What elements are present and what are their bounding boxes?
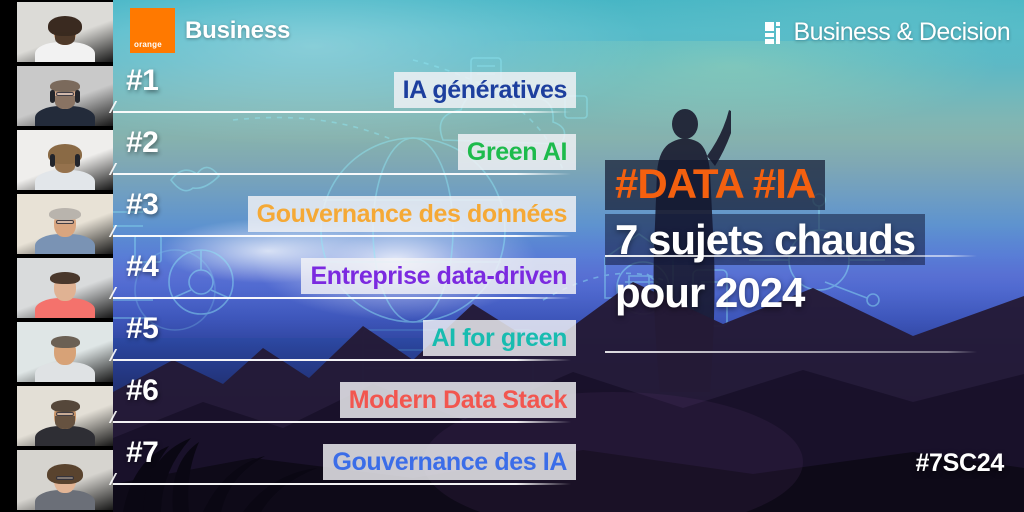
topic-row-4[interactable]: #4Entreprise data-driven (113, 242, 573, 298)
topic-row-2[interactable]: #2Green AI (113, 118, 573, 174)
tile-headphone-left (50, 90, 55, 103)
topic-divider-1 (113, 111, 571, 113)
video-tile-4[interactable] (17, 194, 113, 254)
topic-row-6[interactable]: #6Modern Data Stack (113, 366, 573, 422)
topic-rank-3: #3 (126, 188, 158, 222)
tile-glasses (56, 412, 74, 416)
tile-torso (35, 298, 95, 318)
video-tile-1[interactable] (17, 2, 113, 62)
video-tile-6[interactable] (17, 322, 113, 382)
topic-label-7[interactable]: Gouvernance des IA (323, 444, 576, 480)
tile-torso (35, 106, 95, 126)
topic-divider-5 (113, 359, 571, 361)
topic-divider-2 (113, 173, 571, 175)
tile-torso (35, 490, 95, 510)
topic-label-6[interactable]: Modern Data Stack (340, 382, 576, 418)
tile-headphone-left (50, 154, 55, 167)
tile-torso (35, 42, 95, 62)
topic-rank-6: #6 (126, 374, 158, 408)
topic-label-3[interactable]: Gouvernance des données (248, 196, 576, 232)
video-tile-7[interactable] (17, 386, 113, 446)
tile-glasses (56, 476, 74, 480)
tile-beard (55, 160, 75, 173)
tile-torso (35, 362, 95, 382)
topic-label-4[interactable]: Entreprise data-driven (301, 258, 576, 294)
tile-beard (55, 96, 75, 109)
topic-rank-5: #5 (126, 312, 158, 346)
tile-glasses (56, 92, 74, 96)
tile-torso (35, 234, 95, 254)
topic-rank-4: #4 (126, 250, 158, 284)
video-call-sidebar (0, 0, 113, 512)
topic-row-1[interactable]: #1IA génératives (113, 56, 573, 112)
video-tile-3[interactable] (17, 130, 113, 190)
topic-row-5[interactable]: #5AI for green (113, 304, 573, 360)
tile-torso (35, 170, 95, 190)
tile-glasses (56, 220, 74, 224)
topic-row-7[interactable]: #7Gouvernance des IA (113, 428, 573, 484)
topic-label-5[interactable]: AI for green (423, 320, 577, 356)
topic-label-1[interactable]: IA génératives (394, 72, 576, 108)
topic-row-3[interactable]: #3Gouvernance des données (113, 180, 573, 236)
tile-hair (47, 464, 83, 484)
headline-line-2: 7 sujets chauds (605, 214, 925, 265)
headline-hashtags: #DATA #IA (605, 160, 825, 210)
headline-block: #DATA #IA 7 sujets chauds pour 2024 (605, 160, 995, 318)
video-tile-8[interactable] (17, 450, 113, 510)
tile-headphone-right (75, 154, 80, 167)
tile-beard (55, 416, 75, 429)
topic-divider-3 (113, 235, 571, 237)
topic-rank-2: #2 (126, 126, 158, 160)
presentation-slide: orange Business Business & Decision #1IA… (0, 0, 1024, 512)
headline-divider-1 (605, 255, 977, 257)
topic-divider-6 (113, 421, 571, 423)
tile-torso (35, 426, 95, 446)
headline-line-3: pour 2024 (605, 267, 814, 318)
tile-hair (51, 336, 80, 348)
event-hashtag: #7SC24 (915, 449, 1004, 478)
tile-hair (50, 272, 80, 284)
headline-divider-2 (605, 351, 977, 353)
topic-rank-1: #1 (126, 64, 158, 98)
topic-divider-7 (113, 483, 571, 485)
tile-headphone-right (75, 90, 80, 103)
topic-divider-4 (113, 297, 571, 299)
topic-rank-7: #7 (126, 436, 158, 470)
tile-hair (49, 208, 81, 220)
video-tile-2[interactable] (17, 66, 113, 126)
tile-beard (55, 32, 75, 45)
topic-label-2[interactable]: Green AI (458, 134, 576, 170)
tile-hair (51, 400, 80, 412)
video-tile-5[interactable] (17, 258, 113, 318)
